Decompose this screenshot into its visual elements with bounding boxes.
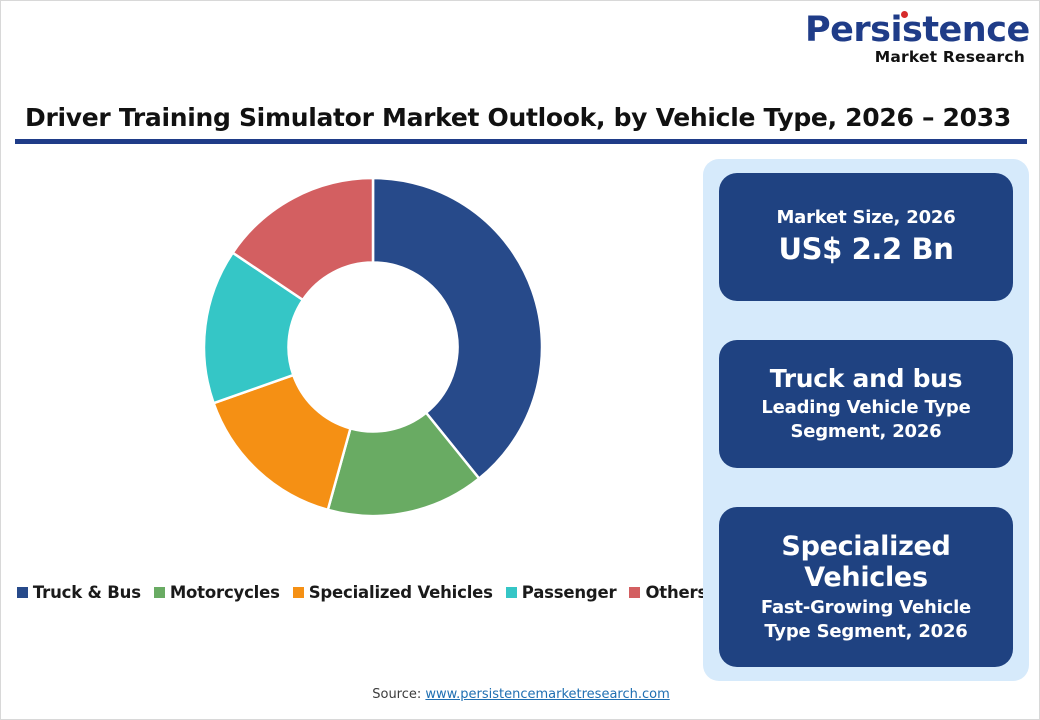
donut-slice-group [204, 178, 542, 516]
leading-segment-caption: Leading Vehicle Type Segment, 2026 [741, 396, 991, 443]
logo-wordmark: Persistence [805, 13, 1030, 48]
legend-swatch-icon [154, 587, 165, 598]
legend-swatch-icon [293, 587, 304, 598]
legend-item-label: Motorcycles [170, 583, 280, 602]
logo-tagline: Market Research [805, 50, 1025, 66]
market-size-label: Market Size, 2026 [776, 207, 955, 230]
logo-dot-icon [901, 11, 908, 18]
brand-logo: Persistence Market Research [805, 13, 1025, 75]
highlights-panel: Market Size, 2026 US$ 2.2 Bn Truck and b… [703, 159, 1029, 681]
legend-swatch-icon [17, 587, 28, 598]
legend-item-label: Passenger [522, 583, 617, 602]
legend-item-label: Others [645, 583, 707, 602]
highlight-card-market-size: Market Size, 2026 US$ 2.2 Bn [719, 173, 1013, 301]
legend-item[interactable]: Passenger [506, 583, 617, 602]
highlight-card-leading-segment: Truck and bus Leading Vehicle Type Segme… [719, 340, 1013, 468]
legend-item[interactable]: Truck & Bus [17, 583, 141, 602]
source-note: Source: www.persistencemarketresearch.co… [1, 687, 1040, 702]
title-underline-rule [15, 139, 1027, 144]
source-url-link[interactable]: www.persistencemarketresearch.com [425, 687, 669, 702]
fastest-growing-segment-name: Specialized Vehicles [731, 531, 1001, 593]
donut-chart [204, 178, 542, 516]
legend-item[interactable]: Motorcycles [154, 583, 280, 602]
page-title-block: Driver Training Simulator Market Outlook… [15, 103, 1027, 144]
legend-swatch-icon [506, 587, 517, 598]
chart-legend: Truck & BusMotorcyclesSpecialized Vehicl… [17, 583, 707, 602]
page-title: Driver Training Simulator Market Outlook… [15, 103, 1027, 132]
chart-area [15, 153, 695, 623]
highlight-card-fastest-growing-segment: Specialized Vehicles Fast-Growing Vehicl… [719, 507, 1013, 667]
donut-chart-svg [204, 178, 542, 516]
legend-item[interactable]: Specialized Vehicles [293, 583, 493, 602]
legend-item-label: Truck & Bus [33, 583, 141, 602]
source-prefix: Source: [372, 687, 425, 702]
legend-item[interactable]: Others [629, 583, 707, 602]
logo-wordmark-text: Persistence [805, 10, 1030, 50]
fastest-growing-segment-caption: Fast-Growing Vehicle Type Segment, 2026 [741, 596, 991, 643]
legend-item-label: Specialized Vehicles [309, 583, 493, 602]
legend-swatch-icon [629, 587, 640, 598]
infographic-page: Persistence Market Research Driver Train… [0, 0, 1040, 720]
leading-segment-name: Truck and bus [770, 365, 963, 394]
market-size-value: US$ 2.2 Bn [779, 232, 954, 267]
